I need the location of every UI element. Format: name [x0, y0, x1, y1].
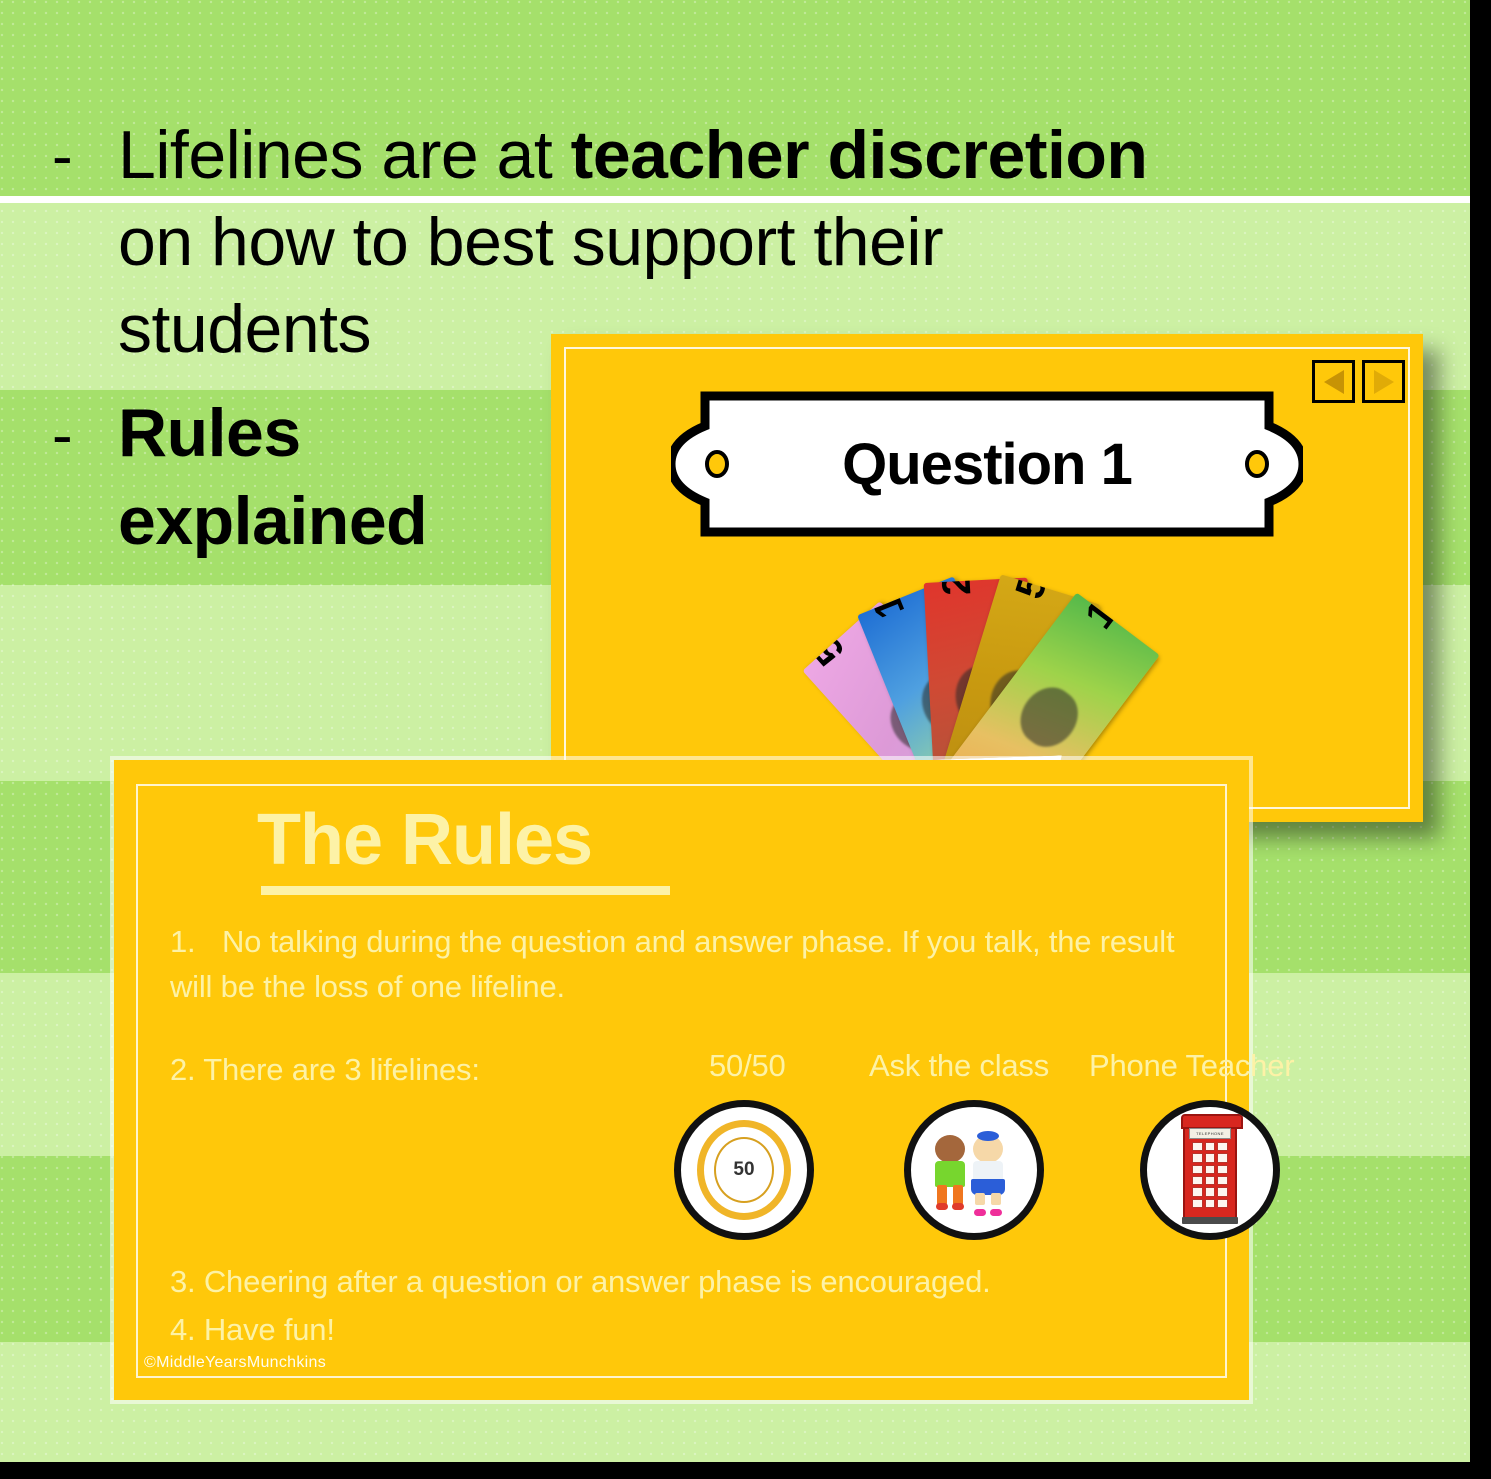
rule-item-1: 1. No talking during the question and an… — [170, 920, 1180, 1010]
banknote-denomination: 10 — [857, 576, 914, 624]
rule-body: No talking during the question and answe… — [170, 924, 1174, 1004]
rules-card-watermark: ©MiddleYearsMunchkins — [144, 1354, 326, 1372]
child-leg — [937, 1185, 947, 1205]
child-leg — [975, 1193, 985, 1205]
child-shirt — [935, 1161, 965, 1187]
telephone-box-window-panes — [1192, 1142, 1228, 1208]
child-shoe — [952, 1203, 964, 1210]
banknote-denomination: 50 — [1007, 574, 1063, 604]
rules-slide-card: The Rules 1. No talking during the quest… — [114, 760, 1249, 1400]
bullet-dash-icon: - — [52, 389, 118, 467]
child-legs — [975, 1193, 1001, 1213]
bullet-text-bold: teacher discretion — [571, 117, 1148, 193]
rules-title-underline — [261, 886, 670, 895]
child-girl-figure — [967, 1135, 1009, 1223]
bullet-dash-icon: - — [52, 112, 118, 188]
question-title-plaque: Question 1 — [671, 390, 1303, 538]
child-leg — [991, 1193, 1001, 1205]
banknote-denomination: 100 — [1077, 593, 1153, 638]
rule-item-4: 4. Have fun! — [170, 1308, 335, 1353]
lifeline-icon-row: 50 — [114, 1100, 1249, 1250]
bullet-text-plain: Lifelines are at — [118, 117, 571, 193]
coin-outer-ring: 50 — [697, 1120, 791, 1220]
question-title-text: Question 1 — [671, 390, 1303, 538]
lifeline-label-ask-the-class: Ask the class — [869, 1048, 1049, 1084]
frame-edge-bottom — [0, 1462, 1491, 1479]
child-shoe — [936, 1203, 948, 1210]
triangle-left-icon — [1324, 370, 1344, 394]
banknote-fan-image: 5 DF 99161 852 10 DF 99161 852 20 DF 991… — [772, 530, 1202, 798]
coin-fifty-icon[interactable]: 50 — [674, 1100, 814, 1240]
child-legs — [937, 1185, 963, 1205]
child-leg — [953, 1185, 963, 1205]
phone-box-icon[interactable]: TELEPHONE — [1140, 1100, 1280, 1240]
telephone-box-base — [1182, 1217, 1238, 1224]
hair-bow-icon — [977, 1131, 999, 1141]
coin-value-text: 50 — [714, 1137, 774, 1203]
next-slide-button[interactable] — [1362, 360, 1405, 403]
banknote-denomination: 20 — [933, 578, 980, 597]
slide-canvas: - Lifelines are at teacher discretion on… — [0, 0, 1470, 1462]
triangle-right-icon — [1374, 370, 1394, 394]
lifeline-label-phone-teacher: Phone Teacher — [1089, 1048, 1294, 1084]
telephone-box-roof — [1181, 1114, 1243, 1129]
frame-edge-right — [1470, 0, 1491, 1479]
two-children-icon[interactable] — [904, 1100, 1044, 1240]
child-boy-figure — [929, 1135, 971, 1223]
previous-slide-button[interactable] — [1312, 360, 1355, 403]
rule-item-3: 3. Cheering after a question or answer p… — [170, 1260, 991, 1305]
banknote-denomination: 5 — [805, 627, 853, 674]
telephone-box-sign: TELEPHONE — [1189, 1128, 1231, 1139]
bullet-line: Lifelines are at teacher discretion — [118, 112, 1392, 199]
slide-navigation — [1312, 360, 1405, 403]
child-shoe — [974, 1209, 986, 1216]
bullet-line: on how to best support their — [118, 199, 1392, 286]
lifeline-label-5050: 50/50 — [709, 1048, 786, 1084]
child-head — [935, 1135, 965, 1163]
rules-title: The Rules — [257, 804, 592, 876]
banknote-portrait-icon — [1010, 677, 1089, 757]
lifeline-label-row: 50/50 Ask the class Phone Teacher — [114, 1048, 1249, 1096]
telephone-box: TELEPHONE — [1183, 1121, 1237, 1219]
child-shoe — [990, 1209, 1002, 1216]
rule-number: 1. — [170, 920, 195, 965]
question-slide-card: Question 1 5 DF 99161 852 10 DF 99161 85… — [551, 334, 1423, 822]
